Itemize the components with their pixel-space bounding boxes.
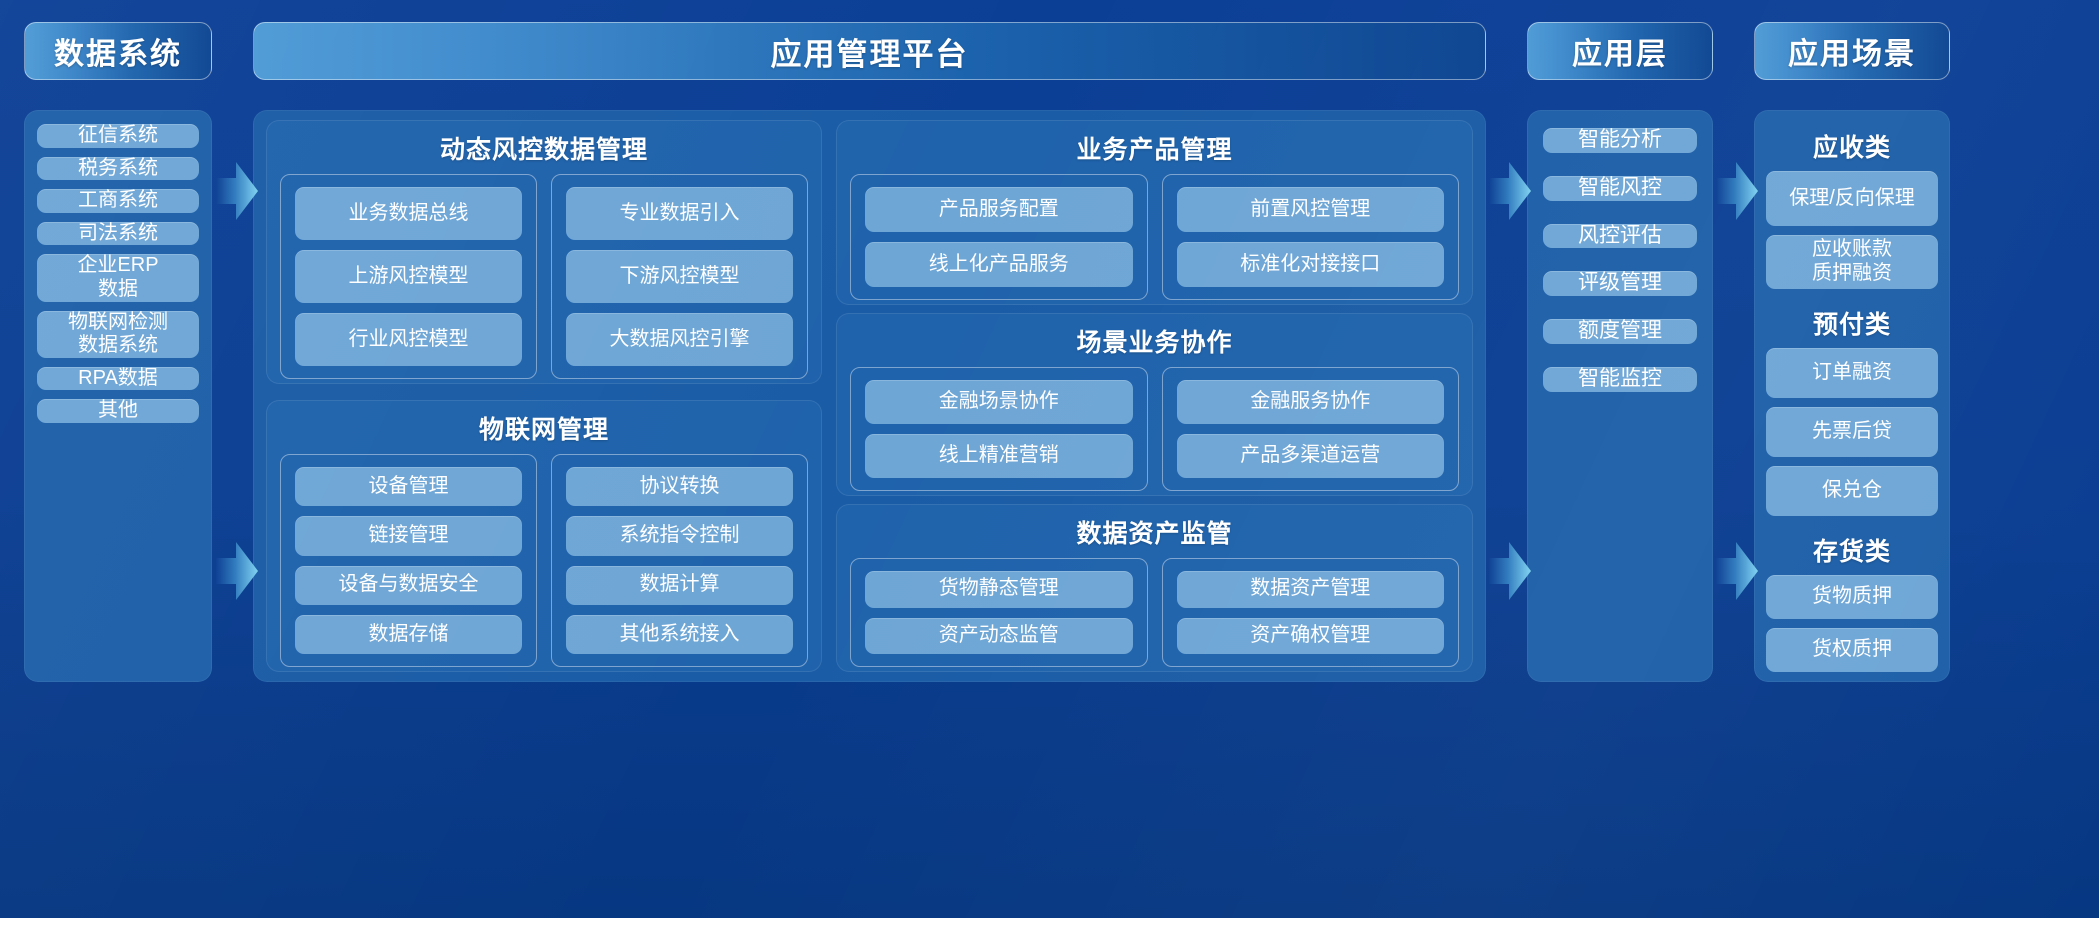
platform-chip[interactable]: 协议转换 (566, 467, 793, 506)
application-layer-chip[interactable]: 智能分析 (1543, 128, 1697, 153)
platform-group-columns: 设备管理链接管理设备与数据安全数据存储协议转换系统指令控制数据计算其他系统接入 (266, 454, 822, 680)
platform-subbox-right: 前置风控管理标准化对接接口 (1162, 174, 1460, 300)
platform-subbox-left: 金融场景协作线上精准营销 (850, 367, 1148, 491)
application-layer-chip[interactable]: 额度管理 (1543, 319, 1697, 344)
platform-chip[interactable]: 设备与数据安全 (295, 566, 522, 605)
data-system-chip[interactable]: 司法系统 (37, 222, 199, 246)
data-system-chip[interactable]: 其他 (37, 399, 199, 423)
scenario-chip[interactable]: 保理/反向保理 (1766, 171, 1938, 226)
platform-chip[interactable]: 系统指令控制 (566, 516, 793, 555)
scenario-chip[interactable]: 货权质押 (1766, 628, 1938, 672)
scenario-item-list: 保理/反向保理应收账款质押融资 (1766, 171, 1938, 289)
platform-subbox-left: 产品服务配置线上化产品服务 (850, 174, 1148, 300)
platform-chip[interactable]: 线上精准营销 (865, 434, 1133, 478)
platform-chip[interactable]: 专业数据引入 (566, 187, 793, 240)
platform-subbox-right: 协议转换系统指令控制数据计算其他系统接入 (551, 454, 808, 667)
scenario-group: 应收类保理/反向保理应收账款质押融资 (1766, 122, 1938, 289)
column-application-layer: 应用层 智能分析智能风控风控评估评级管理额度管理智能监控 (1527, 22, 1713, 682)
data-system-chip[interactable]: 工商系统 (37, 189, 199, 213)
application-layer-chip[interactable]: 智能风控 (1543, 176, 1697, 201)
scenario-chip[interactable]: 保兑仓 (1766, 466, 1938, 516)
platform-subbox-right: 数据资产管理资产确权管理 (1162, 558, 1460, 667)
platform-group-columns: 金融场景协作线上精准营销金融服务协作产品多渠道运营 (836, 367, 1473, 504)
application-scenarios-group-list: 应收类保理/反向保理应收账款质押融资预付类订单融资先票后贷保兑仓存货类货物质押货… (1766, 120, 1938, 672)
platform-chip[interactable]: 数据资产管理 (1177, 571, 1445, 608)
platform-chip[interactable]: 标准化对接接口 (1177, 242, 1445, 287)
platform-chip[interactable]: 下游风控模型 (566, 250, 793, 303)
data-system-chip[interactable]: 征信系统 (37, 124, 199, 148)
application-layer-item-list: 智能分析智能风控风控评估评级管理额度管理智能监控 (1543, 128, 1697, 664)
platform-subbox-right: 金融服务协作产品多渠道运营 (1162, 367, 1460, 491)
flow-arrow-icon (1489, 540, 1531, 602)
platform-chip[interactable]: 产品多渠道运营 (1177, 434, 1445, 478)
column-header-application-scenarios: 应用场景 (1754, 22, 1950, 80)
panel-application-platform: 动态风控数据管理业务数据总线上游风控模型行业风控模型专业数据引入下游风控模型大数… (253, 110, 1486, 682)
platform-chip[interactable]: 其他系统接入 (566, 615, 793, 654)
data-system-chip[interactable]: 税务系统 (37, 157, 199, 181)
application-layer-chip[interactable]: 评级管理 (1543, 271, 1697, 296)
platform-chip[interactable]: 设备管理 (295, 467, 522, 506)
scenario-group-title: 应收类 (1766, 122, 1938, 171)
platform-chip[interactable]: 上游风控模型 (295, 250, 522, 303)
platform-group-title: 场景业务协作 (836, 313, 1473, 367)
column-application-scenarios: 应用场景 应收类保理/反向保理应收账款质押融资预付类订单融资先票后贷保兑仓存货类… (1754, 22, 1950, 682)
platform-group: 数据资产监管货物静态管理资产动态监管数据资产管理资产确权管理 (836, 504, 1473, 672)
flow-arrow-icon (216, 160, 258, 222)
platform-chip[interactable]: 链接管理 (295, 516, 522, 555)
platform-group-title: 数据资产监管 (836, 504, 1473, 558)
platform-chip[interactable]: 前置风控管理 (1177, 187, 1445, 232)
scenario-group-title: 预付类 (1766, 299, 1938, 348)
platform-group-columns: 产品服务配置线上化产品服务前置风控管理标准化对接接口 (836, 174, 1473, 313)
platform-group-columns: 货物静态管理资产动态监管数据资产管理资产确权管理 (836, 558, 1473, 680)
scenario-chip[interactable]: 应收账款质押融资 (1766, 235, 1938, 290)
platform-chip[interactable]: 业务数据总线 (295, 187, 522, 240)
scenario-group: 存货类货物质押货权质押 (1766, 526, 1938, 672)
platform-subbox-right: 专业数据引入下游风控模型大数据风控引擎 (551, 174, 808, 379)
platform-group: 动态风控数据管理业务数据总线上游风控模型行业风控模型专业数据引入下游风控模型大数… (266, 120, 822, 384)
platform-group: 场景业务协作金融场景协作线上精准营销金融服务协作产品多渠道运营 (836, 313, 1473, 496)
column-application-platform: 应用管理平台 动态风控数据管理业务数据总线上游风控模型行业风控模型专业数据引入下… (253, 22, 1486, 682)
data-system-chip[interactable]: 物联网检测数据系统 (37, 311, 199, 358)
platform-group-title: 动态风控数据管理 (266, 120, 822, 174)
platform-subbox-left: 货物静态管理资产动态监管 (850, 558, 1148, 667)
column-header-application-layer: 应用层 (1527, 22, 1713, 80)
scenario-chip[interactable]: 先票后贷 (1766, 407, 1938, 457)
data-system-chip[interactable]: 企业ERP数据 (37, 254, 199, 301)
platform-group-title: 业务产品管理 (836, 120, 1473, 174)
panel-application-scenarios: 应收类保理/反向保理应收账款质押融资预付类订单融资先票后贷保兑仓存货类货物质押货… (1754, 110, 1950, 682)
application-layer-chip[interactable]: 风控评估 (1543, 224, 1697, 249)
platform-subbox-left: 设备管理链接管理设备与数据安全数据存储 (280, 454, 537, 667)
scenario-group-title: 存货类 (1766, 526, 1938, 575)
platform-chip[interactable]: 金融场景协作 (865, 380, 1133, 424)
data-systems-item-list: 征信系统税务系统工商系统司法系统企业ERP数据物联网检测数据系统RPA数据其他 (37, 124, 199, 668)
platform-group: 业务产品管理产品服务配置线上化产品服务前置风控管理标准化对接接口 (836, 120, 1473, 305)
data-system-chip[interactable]: RPA数据 (37, 367, 199, 391)
flow-arrow-icon (1716, 540, 1758, 602)
flow-arrow-icon (1489, 160, 1531, 222)
diagram-canvas: 数据系统 征信系统税务系统工商系统司法系统企业ERP数据物联网检测数据系统RPA… (0, 0, 2099, 918)
platform-chip[interactable]: 资产确权管理 (1177, 618, 1445, 655)
platform-chip[interactable]: 数据计算 (566, 566, 793, 605)
platform-group-columns: 业务数据总线上游风控模型行业风控模型专业数据引入下游风控模型大数据风控引擎 (266, 174, 822, 392)
flow-arrow-icon (216, 540, 258, 602)
application-layer-chip[interactable]: 智能监控 (1543, 367, 1697, 392)
scenario-group: 预付类订单融资先票后贷保兑仓 (1766, 299, 1938, 516)
column-header-data-systems: 数据系统 (24, 22, 212, 80)
platform-group-title: 物联网管理 (266, 400, 822, 454)
panel-data-systems: 征信系统税务系统工商系统司法系统企业ERP数据物联网检测数据系统RPA数据其他 (24, 110, 212, 682)
scenario-item-list: 货物质押货权质押 (1766, 575, 1938, 672)
platform-group: 物联网管理设备管理链接管理设备与数据安全数据存储协议转换系统指令控制数据计算其他… (266, 400, 822, 672)
platform-chip[interactable]: 产品服务配置 (865, 187, 1133, 232)
platform-chip[interactable]: 行业风控模型 (295, 313, 522, 366)
platform-chip[interactable]: 货物静态管理 (865, 571, 1133, 608)
scenario-chip[interactable]: 货物质押 (1766, 575, 1938, 619)
platform-subbox-left: 业务数据总线上游风控模型行业风控模型 (280, 174, 537, 379)
platform-chip[interactable]: 金融服务协作 (1177, 380, 1445, 424)
flow-arrow-icon (1716, 160, 1758, 222)
scenario-item-list: 订单融资先票后贷保兑仓 (1766, 348, 1938, 516)
platform-chip[interactable]: 资产动态监管 (865, 618, 1133, 655)
panel-application-layer: 智能分析智能风控风控评估评级管理额度管理智能监控 (1527, 110, 1713, 682)
platform-chip[interactable]: 线上化产品服务 (865, 242, 1133, 287)
column-data-systems: 数据系统 征信系统税务系统工商系统司法系统企业ERP数据物联网检测数据系统RPA… (24, 22, 212, 682)
platform-chip[interactable]: 大数据风控引擎 (566, 313, 793, 366)
column-header-application-platform: 应用管理平台 (253, 22, 1486, 80)
platform-chip[interactable]: 数据存储 (295, 615, 522, 654)
scenario-chip[interactable]: 订单融资 (1766, 348, 1938, 398)
